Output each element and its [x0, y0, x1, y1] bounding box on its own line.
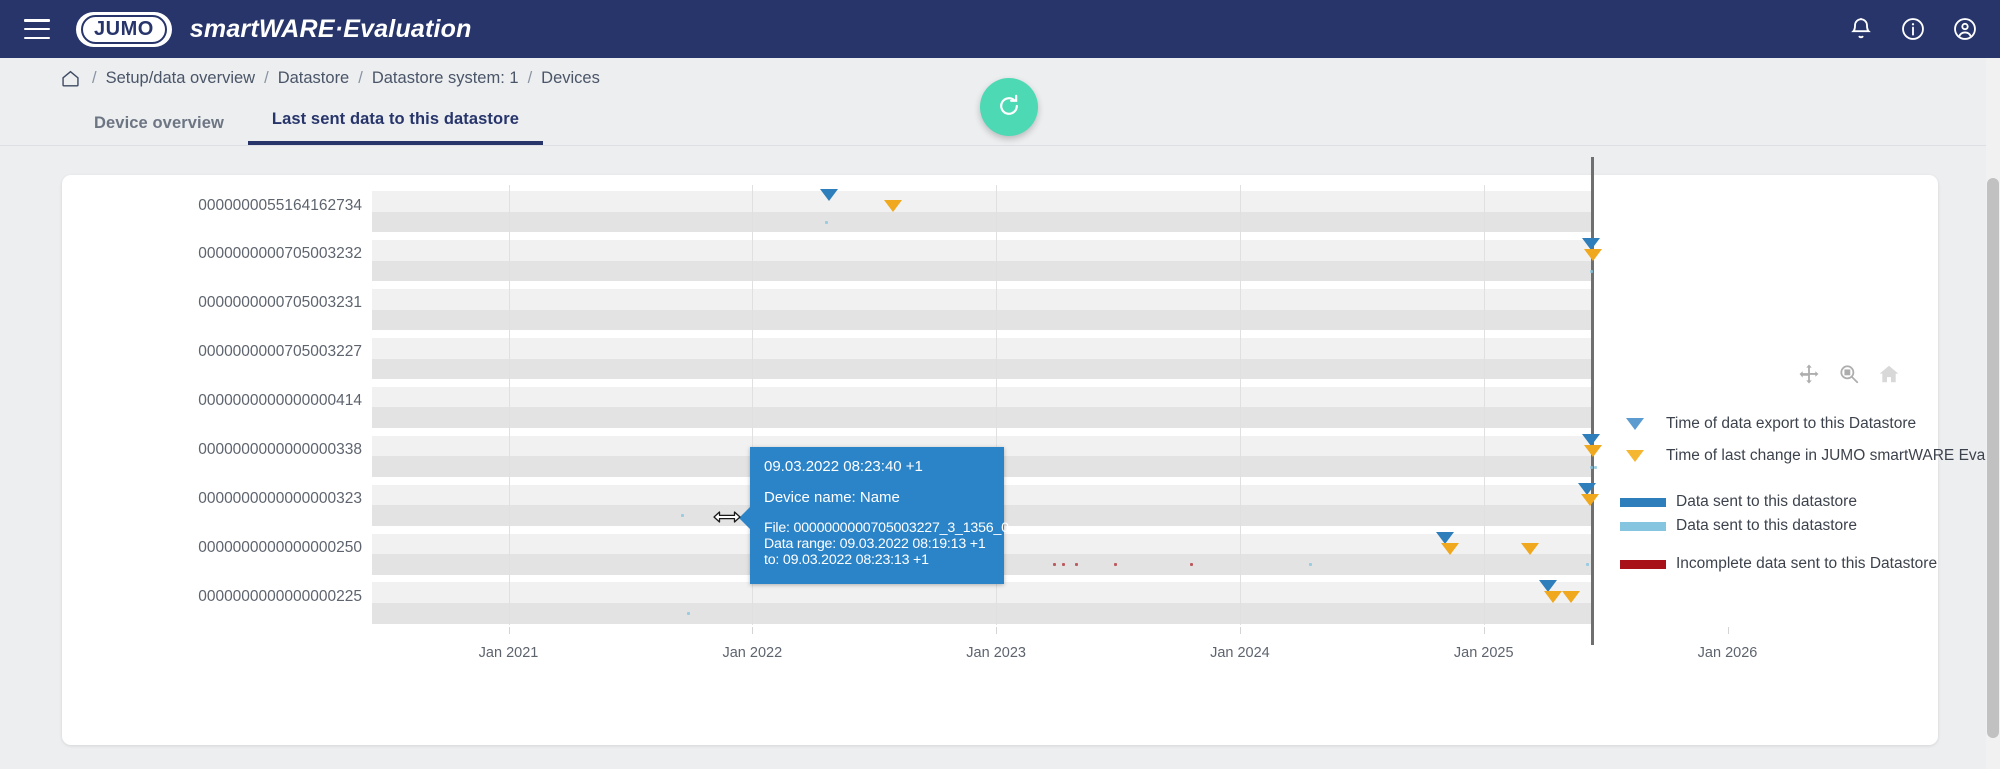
legend-triangle-icon	[1626, 450, 1644, 462]
breadcrumb-separator-2: /	[358, 69, 363, 88]
legend-spacer	[1620, 541, 2000, 555]
tooltip-file: File: 0000000000705003227_3_1356_0	[764, 521, 990, 535]
chart-marker-triangle[interactable]	[1441, 543, 1459, 555]
x-axis-label: Jan 2023	[966, 645, 1026, 661]
row-band	[372, 261, 1591, 282]
legend-triangle-icon	[1626, 418, 1644, 430]
chart-marker-dot[interactable]	[1594, 466, 1597, 469]
y-axis-labels: 0000000055164162734000000000070500323200…	[142, 175, 362, 745]
chart-marker-triangle[interactable]	[1562, 591, 1580, 603]
jumo-logo-text: JUMO	[81, 15, 167, 44]
x-axis-tick	[1240, 627, 1241, 634]
x-gridline	[509, 185, 510, 625]
home-icon[interactable]	[60, 68, 81, 89]
chart-marker-dot[interactable]	[825, 221, 828, 224]
app-header: JUMO smartWARE·Evaluation	[0, 0, 2000, 58]
row-band	[372, 359, 1591, 380]
chart-marker-dot[interactable]	[1190, 563, 1193, 566]
row-band	[372, 338, 1591, 359]
refresh-icon	[996, 93, 1022, 122]
home-reset-icon[interactable]	[1878, 363, 1900, 385]
breadcrumb-separator-0: /	[92, 69, 97, 88]
y-axis-label: 0000000000705003231	[198, 294, 362, 312]
chart-tooltip: 09.03.2022 08:23:40 +1 Device name: Name…	[750, 447, 1004, 584]
chart-marker-dot[interactable]	[1586, 563, 1589, 566]
y-axis-label: 0000000055164162734	[198, 197, 362, 215]
chart-marker-dot[interactable]	[1590, 270, 1593, 273]
chart-marker-triangle[interactable]	[884, 200, 902, 212]
legend-item-label: Incomplete data sent to this Datastore	[1676, 555, 1937, 573]
y-axis-label: 0000000000000000338	[198, 441, 362, 459]
row-band	[372, 289, 1591, 310]
page-scrollbar-track[interactable]	[1986, 58, 2000, 769]
x-axis-tick	[509, 627, 510, 634]
x-axis-label: Jan 2022	[722, 645, 782, 661]
chart-toolbar	[1798, 363, 1900, 385]
legend-item[interactable]: Time of last change in JUMO smartWARE Ev…	[1620, 447, 2000, 465]
cursor-line[interactable]	[1591, 157, 1594, 645]
chart-marker-triangle[interactable]	[1584, 249, 1602, 261]
tooltip-device-name: Device name: Name	[764, 490, 990, 505]
notification-bell-icon[interactable]	[1848, 16, 1874, 42]
tooltip-timestamp: 09.03.2022 08:23:40 +1	[764, 459, 990, 474]
legend-spacer	[1620, 479, 2000, 493]
y-axis-label: 0000000000000000323	[198, 490, 362, 508]
zoom-icon[interactable]	[1838, 363, 1860, 385]
chart-marker-dot[interactable]	[1590, 466, 1593, 469]
x-axis-label: Jan 2025	[1454, 645, 1514, 661]
tooltip-data-range-from: Data range: 09.03.2022 08:19:13 +1	[764, 537, 990, 551]
legend-item-label: Time of data export to this Datastore	[1666, 415, 1916, 433]
chart-marker-triangle[interactable]	[1544, 591, 1562, 603]
row-band	[372, 582, 1591, 603]
legend-bar-icon	[1620, 560, 1666, 569]
legend-bar-icon	[1620, 498, 1666, 507]
legend-item-label: Data sent to this datastore	[1676, 493, 1857, 511]
page-scrollbar-thumb[interactable]	[1987, 178, 1999, 738]
legend-item[interactable]: Time of data export to this Datastore	[1620, 415, 2000, 433]
tab-last-sent-data[interactable]: Last sent data to this datastore	[248, 110, 543, 145]
chart-marker-triangle[interactable]	[1581, 494, 1599, 506]
row-band	[372, 212, 1591, 233]
header-actions	[1848, 16, 1978, 42]
legend-item[interactable]: Data sent to this datastore	[1620, 493, 2000, 511]
breadcrumb-separator-3: /	[528, 69, 533, 88]
breadcrumb-item-devices[interactable]: Devices	[541, 69, 600, 88]
breadcrumb-item-datastore-system[interactable]: Datastore system: 1	[372, 69, 519, 88]
row-band	[372, 603, 1591, 624]
tooltip-data-range-to: to: 09.03.2022 08:23:13 +1	[764, 553, 990, 567]
chart-marker-dot[interactable]	[1062, 563, 1065, 566]
x-axis-tick	[1484, 627, 1485, 634]
x-axis-label: Jan 2021	[479, 645, 539, 661]
breadcrumb-item-datastore[interactable]: Datastore	[278, 69, 350, 88]
refresh-button[interactable]	[980, 78, 1038, 136]
hamburger-icon[interactable]	[24, 19, 50, 39]
breadcrumb-item-setup-data-overview[interactable]: Setup/data overview	[106, 69, 256, 88]
chart-marker-triangle[interactable]	[1584, 445, 1602, 457]
legend-item-label: Time of last change in JUMO smartWARE Ev…	[1666, 447, 2000, 465]
y-axis-label: 0000000000705003227	[198, 343, 362, 361]
tab-device-overview[interactable]: Device overview	[70, 114, 248, 145]
legend-item-label: Data sent to this datastore	[1676, 517, 1857, 535]
row-band	[372, 191, 1591, 212]
x-axis-tick	[996, 627, 997, 634]
chart-marker-triangle[interactable]	[820, 189, 838, 201]
row-band	[372, 407, 1591, 428]
info-icon[interactable]	[1900, 16, 1926, 42]
legend-item[interactable]: Incomplete data sent to this Datastore	[1620, 555, 2000, 573]
horizontal-resize-cursor-icon	[712, 508, 742, 526]
y-axis-label: 0000000000000000225	[198, 588, 362, 606]
chart-marker-triangle[interactable]	[1521, 543, 1539, 555]
legend-bar-icon	[1620, 522, 1666, 531]
row-band	[372, 387, 1591, 408]
y-axis-label: 0000000000000000414	[198, 392, 362, 410]
x-gridline	[1240, 185, 1241, 625]
y-axis-label: 0000000000705003232	[198, 245, 362, 263]
chart-card: 0000000055164162734000000000070500323200…	[62, 175, 1938, 745]
legend-item[interactable]: Data sent to this datastore	[1620, 517, 2000, 535]
chart-legend: Time of data export to this DatastoreTim…	[1620, 415, 2000, 579]
x-axis-label: Jan 2024	[1210, 645, 1270, 661]
pan-icon[interactable]	[1798, 363, 1820, 385]
x-axis-tick	[752, 627, 753, 634]
x-axis-tick	[1728, 627, 1729, 634]
row-band	[372, 310, 1591, 331]
x-gridline	[1484, 185, 1485, 625]
breadcrumb-separator-1: /	[264, 69, 269, 88]
x-axis-label: Jan 2026	[1698, 645, 1758, 661]
y-axis-label: 0000000000000000250	[198, 539, 362, 557]
app-title: smartWARE·Evaluation	[190, 15, 472, 44]
account-icon[interactable]	[1952, 16, 1978, 42]
jumo-logo: JUMO	[76, 12, 172, 47]
row-band	[372, 240, 1591, 261]
